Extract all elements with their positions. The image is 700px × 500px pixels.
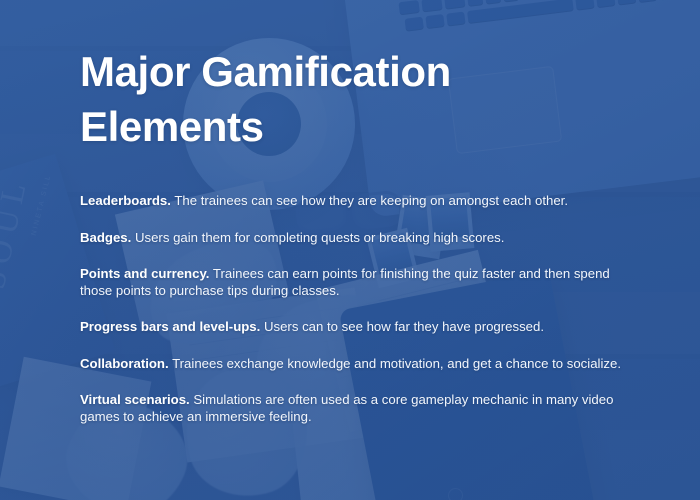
bullet-term: Progress bars and level-ups. [80, 319, 260, 334]
bullet-term: Leaderboards. [80, 193, 171, 208]
bullet-text: Trainees exchange knowledge and motivati… [172, 356, 621, 371]
bullet-item: Collaboration. Trainees exchange knowled… [80, 356, 632, 373]
bullet-text: Users can to see how far they have progr… [264, 319, 544, 334]
page-title: Major Gamification Elements [80, 44, 510, 154]
bullet-text: Users gain them for completing quests or… [135, 230, 504, 245]
bullet-item: Badges. Users gain them for completing q… [80, 230, 632, 247]
bullet-term: Badges. [80, 230, 131, 245]
bullet-text: The trainees can see how they are keepin… [174, 193, 568, 208]
bullet-term: Collaboration. [80, 356, 169, 371]
bullet-item: Leaderboards. The trainees can see how t… [80, 193, 632, 210]
bullet-term: Points and currency. [80, 266, 209, 281]
bullet-item: Progress bars and level-ups. Users can t… [80, 319, 632, 336]
bullet-item: Virtual scenarios. Simulations are often… [80, 392, 632, 425]
bullet-item: Points and currency. Trainees can earn p… [80, 266, 632, 299]
slide-content: Major Gamification Elements Leaderboards… [80, 44, 640, 425]
bullet-term: Virtual scenarios. [80, 392, 190, 407]
bullet-list: Leaderboards. The trainees can see how t… [80, 193, 640, 425]
slide-canvas: SOUL NINETA SILL [0, 0, 700, 500]
